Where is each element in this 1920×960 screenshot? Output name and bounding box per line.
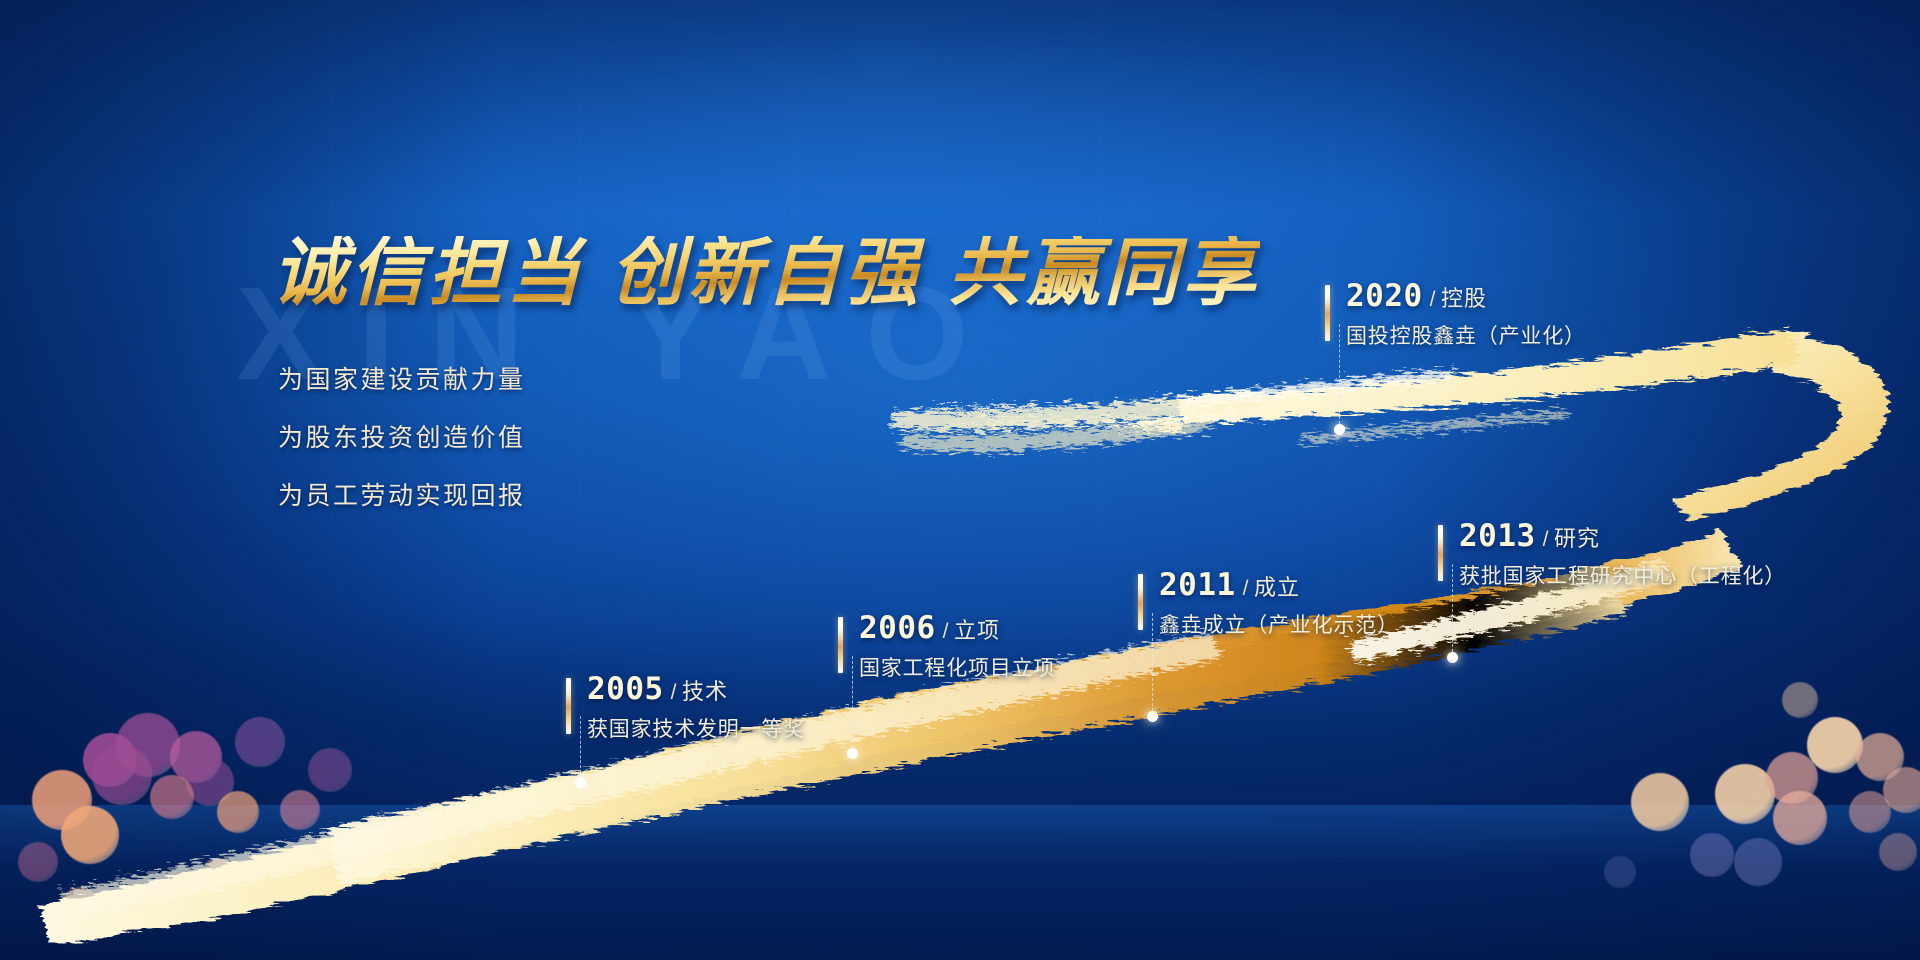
milestone-kind: 立项 <box>954 619 1000 644</box>
milestone-description: 获国家技术发明一等奖 <box>587 713 805 743</box>
milestone-connector-line <box>852 656 853 748</box>
milestone-separator: / <box>943 620 949 643</box>
milestone-description: 鑫垚成立（产业化示范） <box>1159 609 1399 639</box>
page-title: 诚信担当创新自强共赢同享 <box>272 236 1260 310</box>
milestone-accent-bar <box>838 617 843 673</box>
milestone-kind: 控股 <box>1441 287 1487 312</box>
milestone-node-dot[interactable] <box>1147 711 1158 722</box>
milestone-kind: 成立 <box>1254 576 1300 601</box>
milestone-connector-line <box>1152 613 1153 711</box>
milestone-year: 2006/立项 <box>859 610 1000 646</box>
milestone-connector-line <box>580 716 581 778</box>
tagline-line-2: 为股东投资创造价值 <box>278 418 526 454</box>
headline-part-1: 创新自强 <box>610 230 922 316</box>
headline-part-0: 诚信担当 <box>272 230 584 316</box>
milestone-separator: / <box>1430 288 1436 311</box>
milestone-kind: 研究 <box>1554 527 1600 552</box>
headline-part-2: 共赢同享 <box>948 230 1260 316</box>
milestone-accent-bar <box>1438 525 1443 581</box>
milestone-connector-line <box>1339 324 1340 424</box>
milestone-accent-bar <box>1325 285 1330 341</box>
milestone-separator: / <box>1543 528 1549 551</box>
milestone-description: 国家工程化项目立项 <box>859 652 1055 682</box>
milestone-year: 2020/控股 <box>1346 278 1487 314</box>
milestone-description: 获批国家工程研究中心（工程化） <box>1459 560 1786 590</box>
milestone-node-dot[interactable] <box>1334 424 1345 435</box>
banner-canvas: XIN YAO 诚信担当创新自强共赢同享 为国家建设贡献力量 为股东投资创造价值… <box>0 0 1920 960</box>
tagline-line-3: 为员工劳动实现回报 <box>278 476 526 512</box>
milestone-node-dot[interactable] <box>575 777 586 788</box>
milestone-connector-line <box>1452 564 1453 652</box>
milestone-year: 2013/研究 <box>1459 518 1600 554</box>
milestone-description: 国投控股鑫垚（产业化） <box>1346 320 1586 350</box>
milestone-separator: / <box>671 681 677 704</box>
milestone-node-dot[interactable] <box>847 748 858 759</box>
milestone-kind: 技术 <box>682 680 728 705</box>
milestone-year: 2011/成立 <box>1159 567 1300 603</box>
tagline-line-1: 为国家建设贡献力量 <box>278 360 526 396</box>
milestone-year: 2005/技术 <box>587 671 728 707</box>
milestone-accent-bar <box>1138 574 1143 630</box>
milestone-separator: / <box>1243 577 1249 600</box>
milestone-accent-bar <box>566 678 571 734</box>
milestone-node-dot[interactable] <box>1447 652 1458 663</box>
